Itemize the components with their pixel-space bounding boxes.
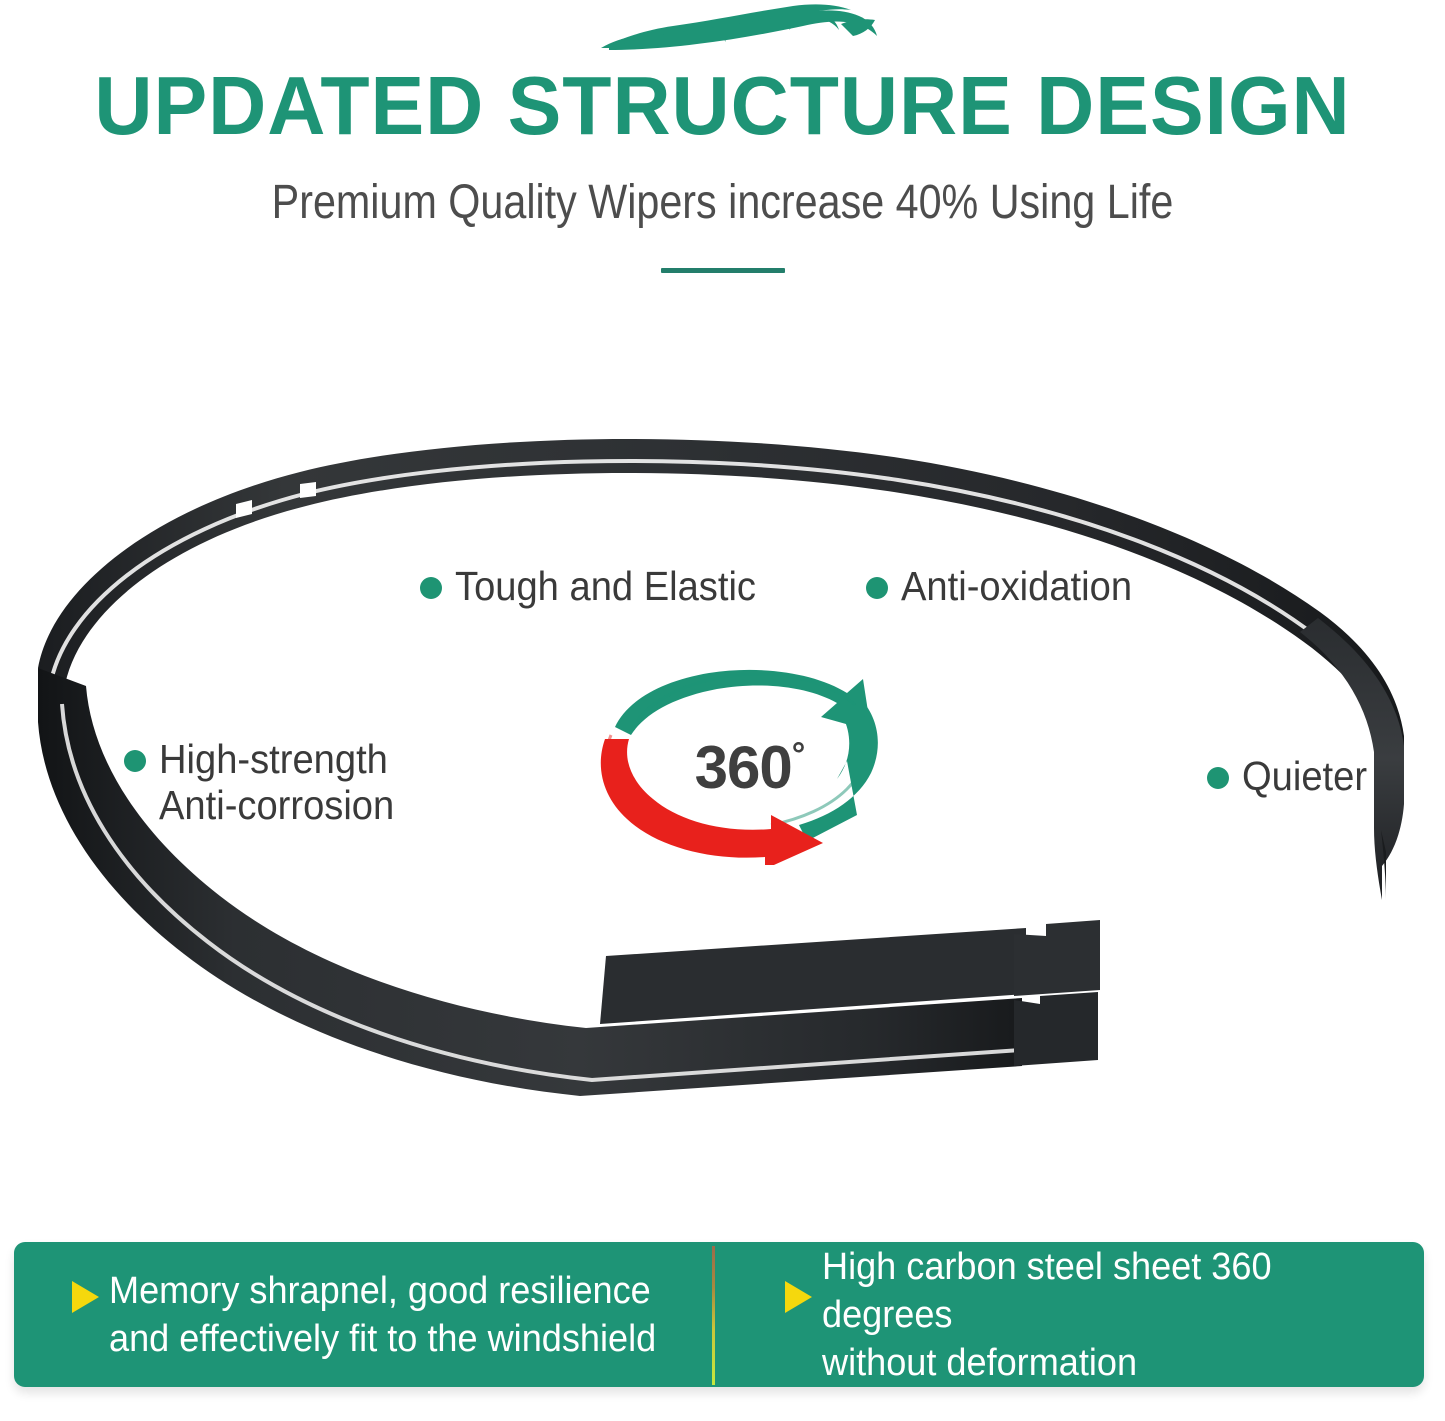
callout-anti-oxidation: Anti-oxidation <box>866 563 1149 609</box>
bullet-dot-icon <box>866 577 888 599</box>
callout-label: Quieter <box>1242 753 1367 799</box>
feature-banner: Memory shrapnel, good resilience and eff… <box>14 1242 1424 1387</box>
bullet-dot-icon <box>1207 767 1229 789</box>
product-feature-graphic: UPDATED STRUCTURE DESIGN Premium Quality… <box>0 0 1445 1421</box>
triangle-bullet-icon <box>785 1281 812 1313</box>
car-silhouette-logo-icon <box>583 2 883 58</box>
bullet-dot-icon <box>420 577 442 599</box>
page-title: UPDATED STRUCTURE DESIGN <box>22 62 1424 150</box>
banner-item-text: High carbon steel sheet 360 degrees with… <box>822 1243 1394 1387</box>
callout-label: Anti-oxidation <box>901 563 1132 609</box>
badge-360-text: 360° <box>575 723 925 800</box>
banner-item-high-carbon-steel: High carbon steel sheet 360 degrees with… <box>715 1242 1425 1387</box>
callout-label: Tough and Elastic <box>455 563 756 609</box>
callout-tough-and-elastic: Tough and Elastic <box>420 563 779 609</box>
triangle-bullet-icon <box>72 1281 99 1313</box>
callout-quieter: Quieter <box>1207 753 1376 799</box>
callout-label: High-strength Anti-corrosion <box>159 736 394 828</box>
badge-value: 360 <box>695 734 792 801</box>
title-divider <box>661 268 785 273</box>
callout-high-strength-anti-corrosion: High-strength Anti-corrosion <box>124 736 412 828</box>
banner-item-text: Memory shrapnel, good resilience and eff… <box>109 1267 656 1363</box>
degree-symbol: ° <box>792 736 806 774</box>
bullet-dot-icon <box>124 750 146 772</box>
rotation-360-badge: 360° <box>575 655 925 865</box>
banner-item-memory-shrapnel: Memory shrapnel, good resilience and eff… <box>14 1242 712 1387</box>
page-subtitle: Premium Quality Wipers increase 40% Usin… <box>101 173 1344 233</box>
